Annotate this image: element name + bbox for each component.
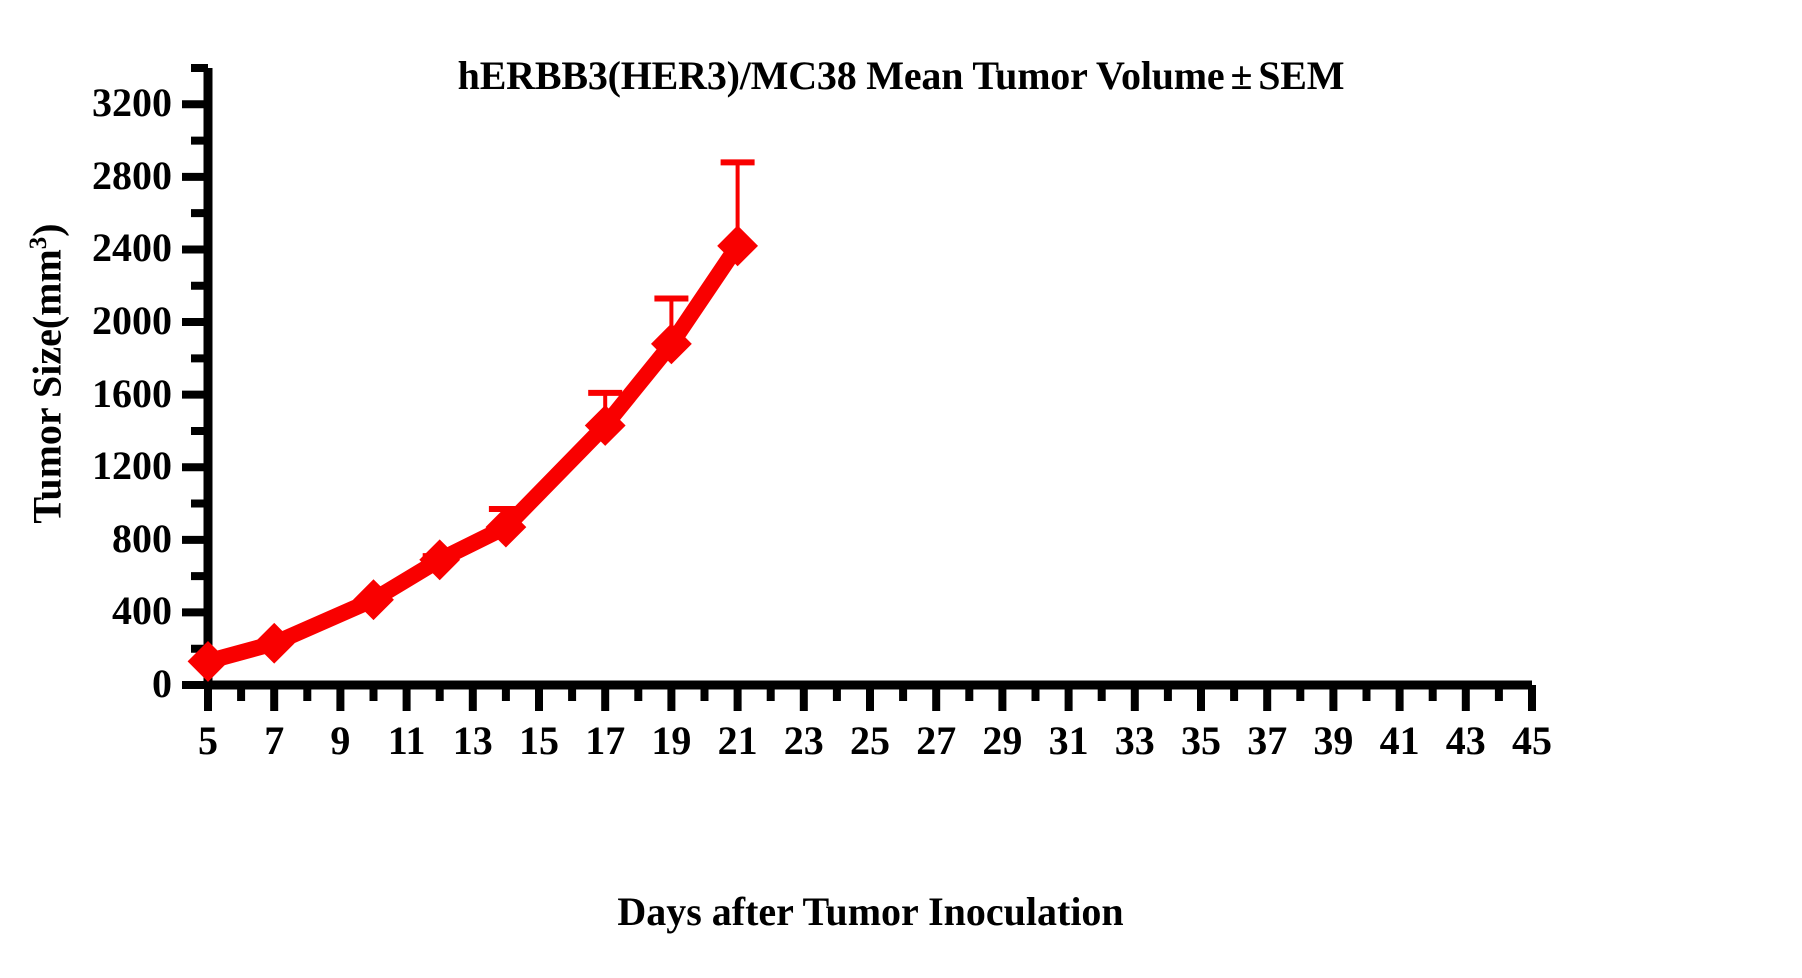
- y-axis-tick-label: 1200: [0, 446, 172, 486]
- x-axis-tick-label: 45: [1492, 721, 1572, 761]
- y-axis-tick-label: 3200: [0, 83, 172, 123]
- y-axis-tick-label: 400: [0, 591, 172, 631]
- y-axis-tick-label: 0: [0, 664, 172, 704]
- series-line: [208, 246, 738, 662]
- chart-canvas: [0, 0, 1802, 978]
- chart-figure: hERBB3(HER3)/MC38 Mean Tumor Volume±SEM …: [0, 0, 1802, 978]
- y-axis-tick-label: 2000: [0, 301, 172, 341]
- y-axis-tick-label: 2800: [0, 156, 172, 196]
- y-axis-tick-label: 2400: [0, 228, 172, 268]
- y-axis-tick-label: 1600: [0, 374, 172, 414]
- y-axis-tick-label: 800: [0, 519, 172, 559]
